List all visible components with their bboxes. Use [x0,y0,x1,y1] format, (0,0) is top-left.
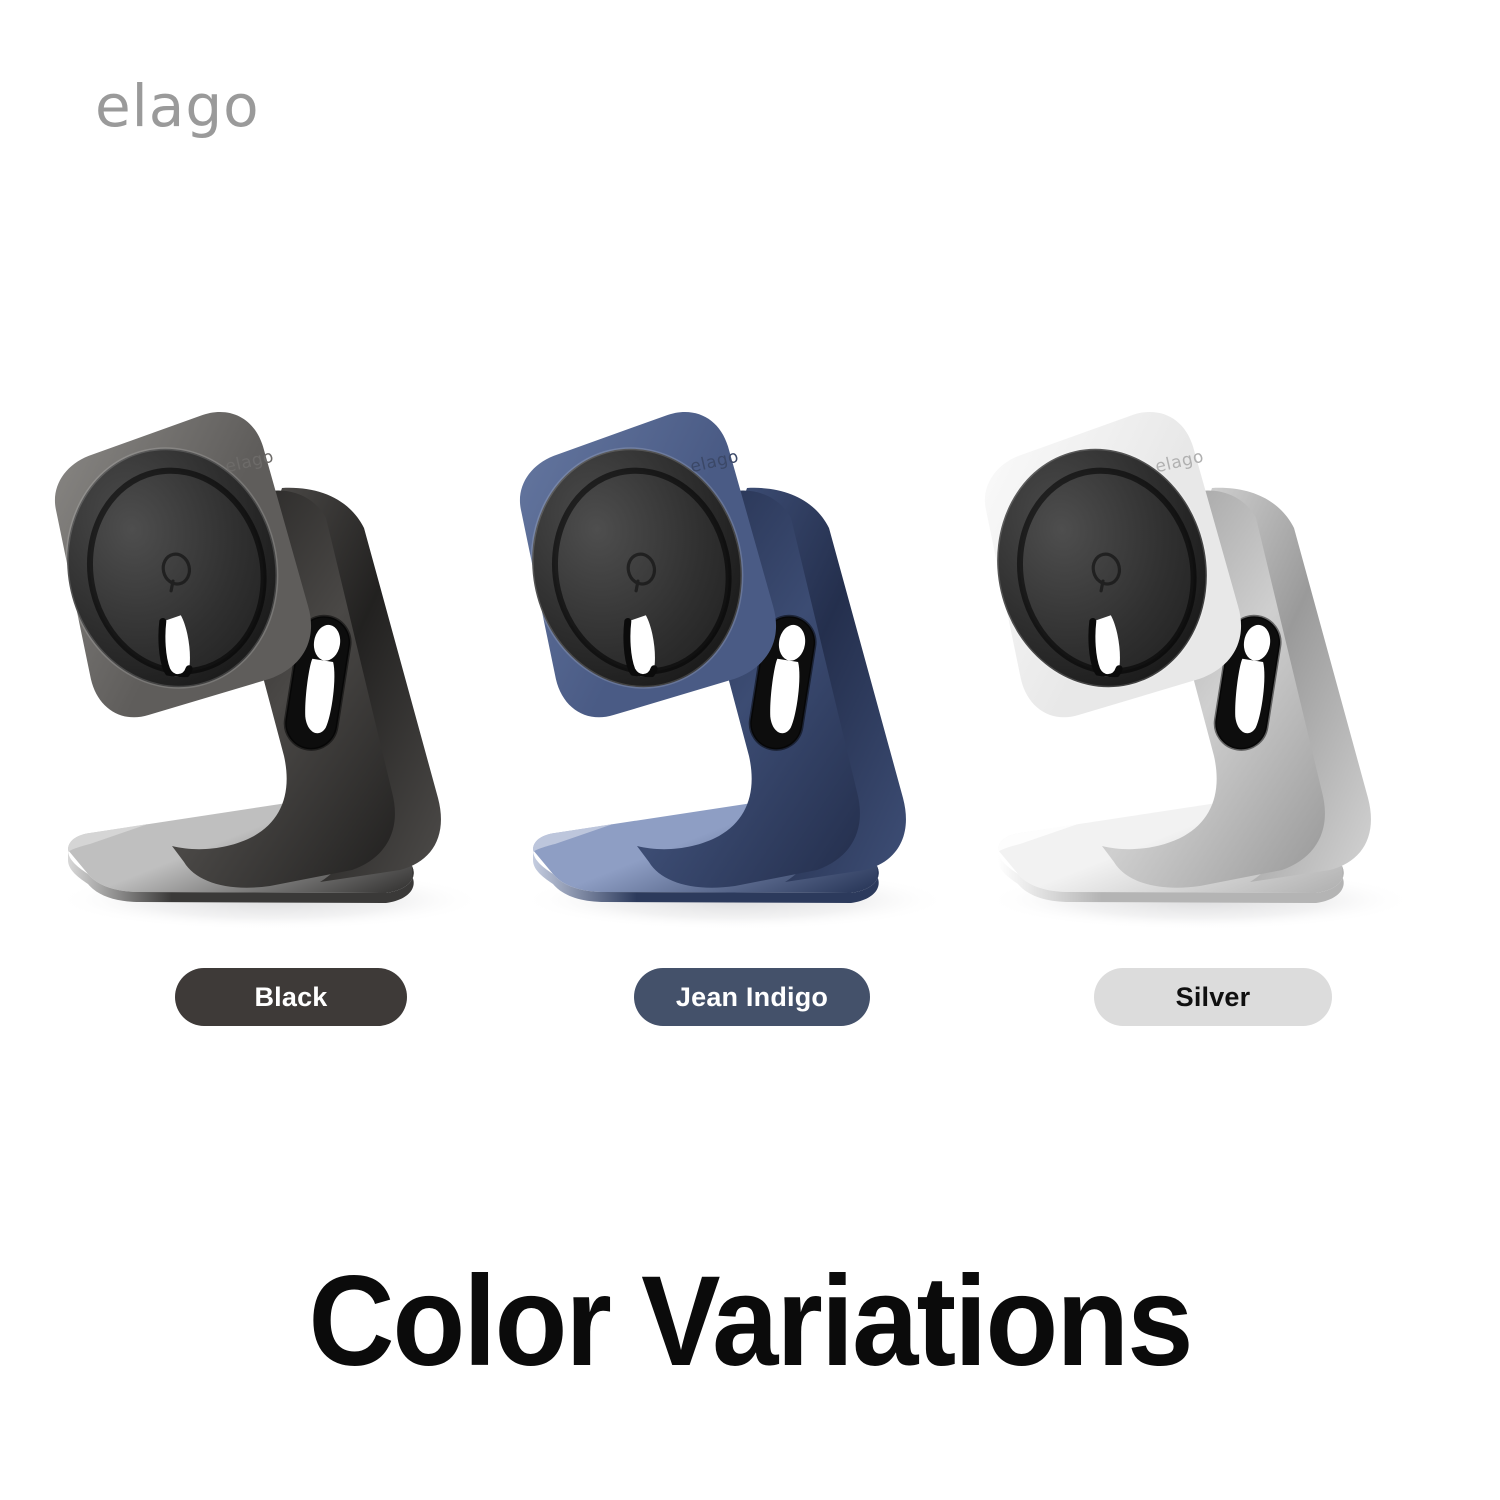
product-variant-jean-indigo[interactable]: elago [485,400,985,960]
magsafe-stand-silver[interactable] [950,400,1450,960]
color-swatch-label: Jean Indigo [676,982,828,1013]
color-swatch-pill-silver[interactable]: Silver [1094,968,1332,1026]
stand-graphic [485,400,985,960]
color-swatch-pill-black[interactable]: Black [175,968,407,1026]
elago-brand-logo: elago [95,72,260,140]
magsafe-stand-black[interactable] [20,400,520,960]
product-variant-black[interactable]: elago [20,400,520,960]
color-swatch-pill-jean-indigo[interactable]: Jean Indigo [634,968,870,1026]
stand-graphic [950,400,1450,960]
product-variant-row: elago [0,400,1500,960]
product-variant-silver[interactable]: elago [950,400,1450,960]
product-showcase-page: elago [0,0,1500,1500]
color-swatch-label-row: BlackJean IndigoSilver [0,968,1500,1028]
headline-color-variations: Color Variations [53,1248,1448,1395]
color-swatch-label: Silver [1176,982,1251,1013]
color-swatch-label: Black [254,982,327,1013]
stand-graphic [20,400,520,960]
magsafe-stand-jean-indigo[interactable] [485,400,985,960]
